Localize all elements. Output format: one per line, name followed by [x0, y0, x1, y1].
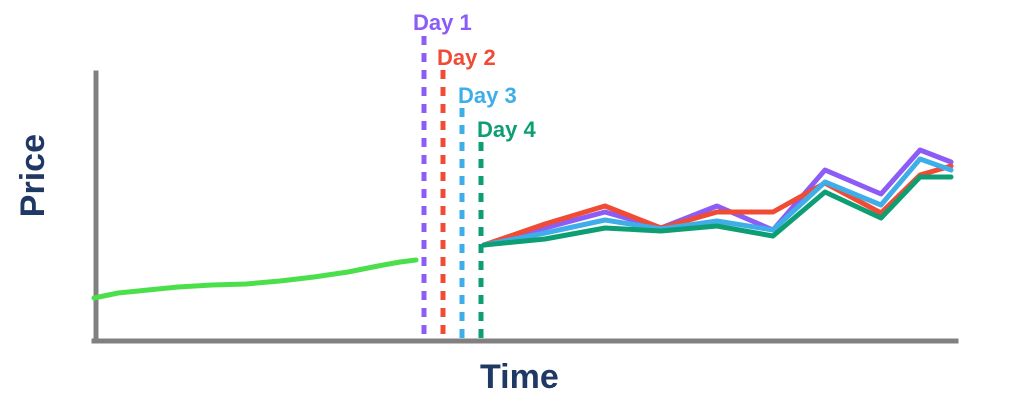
chart-canvas	[0, 0, 1024, 419]
series-day3-line	[484, 159, 951, 245]
forecast-chart: Price Time Day 1 Day 2 Day 3 Day 4	[0, 0, 1024, 419]
series-historical-line	[94, 260, 416, 298]
day3-label: Day 3	[458, 83, 517, 109]
x-axis-title: Time	[480, 358, 559, 397]
y-axis-title: Price	[14, 134, 53, 217]
day1-label: Day 1	[413, 10, 472, 36]
day4-label: Day 4	[477, 117, 536, 143]
day2-label: Day 2	[437, 45, 496, 71]
